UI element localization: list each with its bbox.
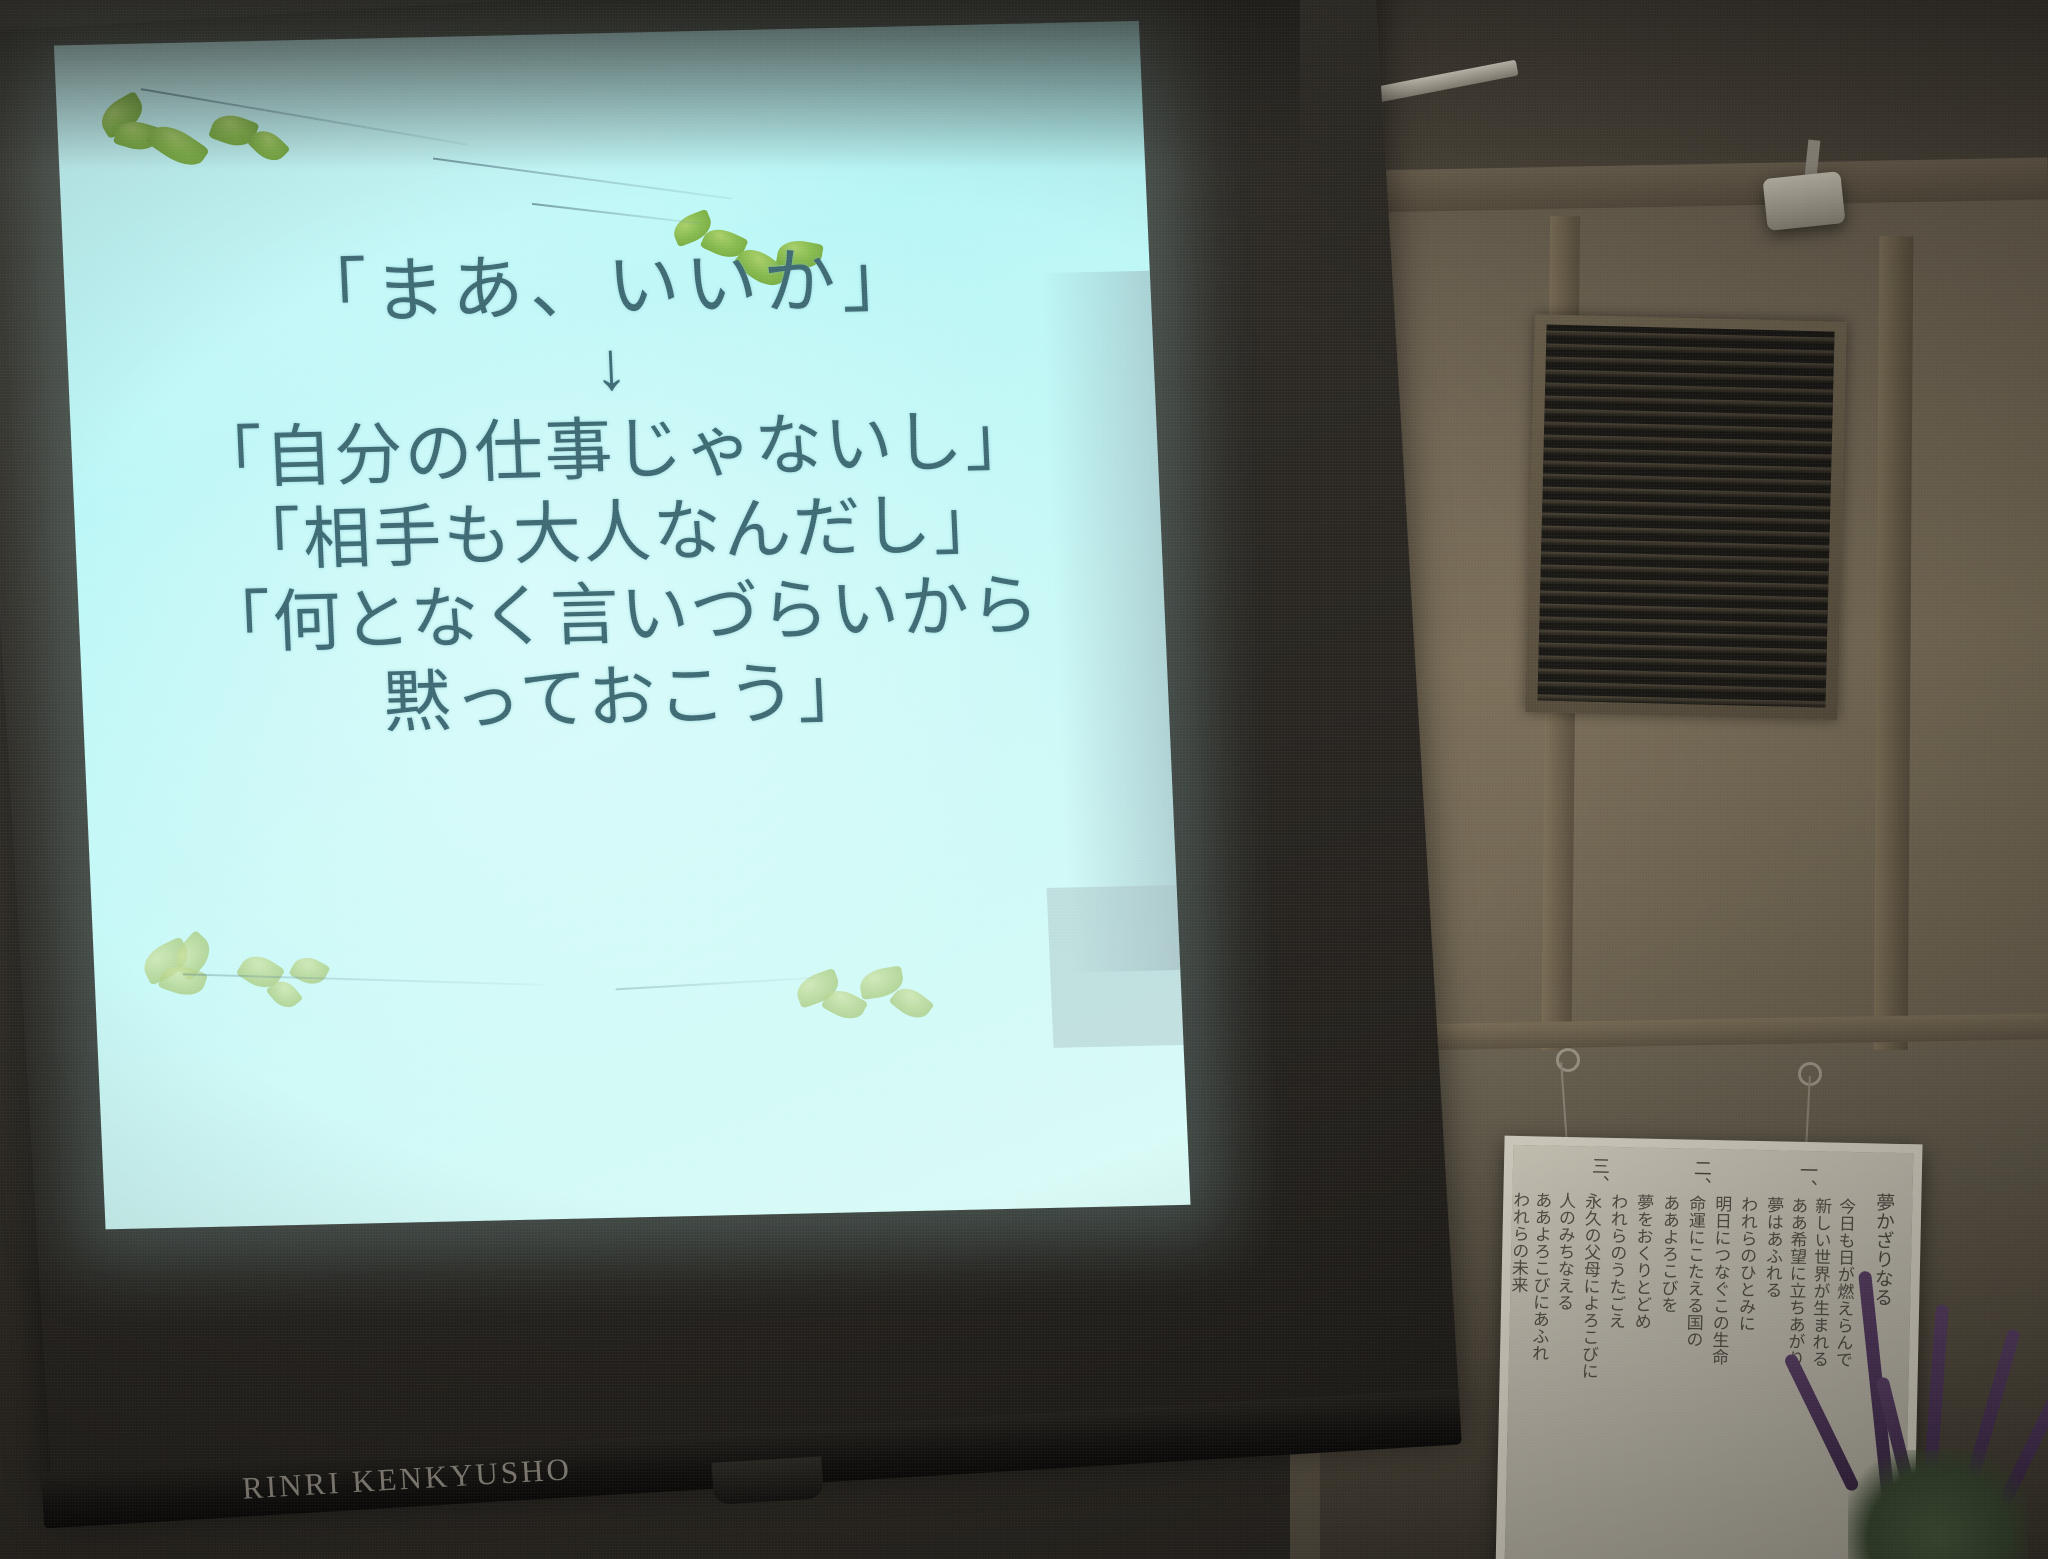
vine-line bbox=[532, 203, 702, 225]
poster-hook-left bbox=[1556, 1048, 1580, 1072]
poster-verse-number-3: 三、 bbox=[1586, 1156, 1613, 1193]
flower-arrangement bbox=[1830, 1270, 2048, 1559]
vine-line bbox=[433, 157, 732, 199]
ceiling-spotlight-icon bbox=[1762, 171, 1845, 231]
slide-text-block: 「まあ、いいか」 ↓ 「自分の仕事じゃないし」 「相手も大人なんだし」 「何とな… bbox=[63, 236, 1169, 753]
poster-column: ああよろこびを bbox=[1650, 1194, 1678, 1314]
louver-vent bbox=[1525, 314, 1847, 720]
projector-screen-roller-cap bbox=[712, 1456, 824, 1504]
poster-column: われらの未来 bbox=[1500, 1191, 1528, 1294]
poster-column: 永久の父母によろこびに bbox=[1571, 1192, 1601, 1380]
poster-column: われらのひとみに bbox=[1728, 1195, 1757, 1332]
room-photo-scene: 「まあ、いいか」 ↓ 「自分の仕事じゃないし」 「相手も大人なんだし」 「何とな… bbox=[0, 0, 2048, 1559]
projector-screen-assembly: 「まあ、いいか」 ↓ 「自分の仕事じゃないし」 「相手も大人なんだし」 「何とな… bbox=[0, 0, 1494, 1559]
vent-slats-container bbox=[1537, 325, 1834, 708]
vine-line bbox=[616, 977, 816, 991]
vine-line bbox=[183, 973, 543, 986]
projected-slide: 「まあ、いいか」 ↓ 「自分の仕事じゃないし」 「相手も大人なんだし」 「何とな… bbox=[54, 21, 1191, 1229]
poster-column: 命運にこたえる国の bbox=[1675, 1194, 1704, 1348]
poster-column: 夢はあふれる bbox=[1754, 1196, 1782, 1299]
slide-corner-shade bbox=[1047, 885, 1184, 1048]
leaf-icon bbox=[288, 951, 330, 990]
poster-column: 明日につなぐこの生命 bbox=[1701, 1195, 1731, 1366]
poster-column: われらのうたごえ bbox=[1598, 1193, 1627, 1330]
poster-column: 夢をおくりとどめ bbox=[1624, 1193, 1653, 1330]
poster-verse-number-2: 二、 bbox=[1688, 1159, 1715, 1196]
flower-foliage bbox=[1848, 1450, 2028, 1559]
poster-verse-number-1: 一、 bbox=[1794, 1161, 1821, 1198]
